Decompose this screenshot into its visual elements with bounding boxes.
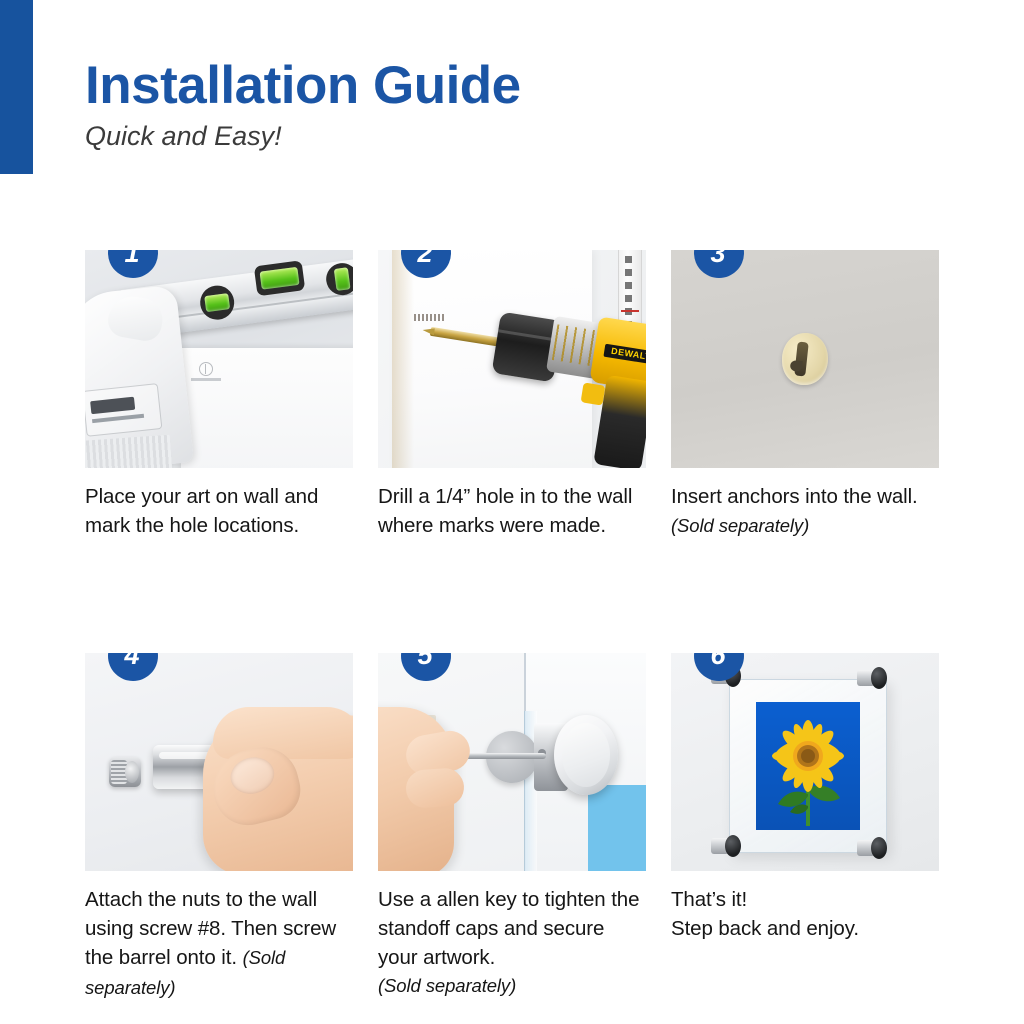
drill-brand-label: DEWALT — [603, 344, 646, 365]
step-3-photo: 3 — [671, 250, 939, 468]
step-6: 6 That’s it! Step back and enjoy. — [671, 653, 939, 1002]
acrylic-frame — [729, 679, 887, 853]
spirit-level-illustration — [85, 250, 353, 468]
standoff-bottom-right — [857, 837, 887, 859]
step-4-caption: Attach the nuts to the wall using screw … — [85, 885, 353, 1002]
panel-label — [191, 378, 221, 381]
ruler-red-line — [621, 310, 639, 312]
step-4-caption-text: Attach the nuts to the wall using screw … — [85, 888, 336, 970]
glove-cuff — [85, 435, 172, 468]
header: Installation Guide Quick and Easy! — [85, 58, 785, 152]
header-accent-bar — [0, 0, 33, 174]
hand-fingers — [213, 707, 353, 759]
finished-frame-illustration — [671, 653, 939, 871]
step-4: 4 Attach the nuts to the wall using scre… — [85, 653, 353, 1002]
sunflower-artwork — [756, 702, 860, 830]
step-5-caption: Use a allen key to tighten the standoff … — [378, 885, 646, 999]
step-1: 1 Place your art on wall and mark the ho… — [85, 250, 353, 541]
bubble-vial-center-icon — [254, 260, 306, 296]
step-2: DEWALT 2 Drill a 1/4” hole in to the wal… — [378, 250, 646, 541]
wall-shadow — [392, 250, 414, 468]
step-5-caption-text: Use a allen key to tighten the standoff … — [378, 888, 639, 970]
step-1-caption-text: Place your art on wall and mark the hole… — [85, 485, 318, 537]
artwork-blue-area — [588, 785, 646, 871]
wall-nut — [109, 757, 141, 787]
step-6-caption: That’s it! Step back and enjoy. — [671, 885, 939, 944]
step-5: 5 Use a allen key to tighten the standof… — [378, 653, 646, 1002]
bubble-vial-left-icon — [198, 284, 236, 322]
standoff-cap — [554, 715, 618, 795]
bubble-vial-right-icon — [324, 261, 353, 297]
page-subtitle: Quick and Easy! — [85, 122, 785, 152]
glove-thumb — [105, 293, 165, 344]
step-5-note: (Sold separately) — [378, 973, 646, 999]
drywall-anchor — [782, 333, 828, 385]
step-2-caption-text: Drill a 1/4” hole in to the wall where m… — [378, 485, 632, 537]
allen-key-illustration — [378, 653, 646, 871]
steps-grid: 1 Place your art on wall and mark the ho… — [85, 250, 939, 1002]
step-6-photo: 6 — [671, 653, 939, 871]
drill-mark — [414, 314, 444, 321]
page-title: Installation Guide — [85, 58, 785, 114]
step-1-caption: Place your art on wall and mark the hole… — [85, 482, 353, 541]
drill-trigger — [581, 382, 606, 405]
sunflower-icon — [756, 702, 860, 830]
art-panel — [181, 348, 353, 468]
step-2-caption: Drill a 1/4” hole in to the wall where m… — [378, 482, 646, 541]
panel-mark-icon — [199, 362, 213, 376]
step-4-photo: 4 — [85, 653, 353, 871]
glove-logo — [85, 383, 162, 437]
drill-illustration: DEWALT — [378, 250, 646, 468]
standoff-bottom-left — [711, 835, 741, 857]
step-6-caption-text: That’s it! Step back and enjoy. — [671, 888, 859, 940]
standoff-top-right — [857, 667, 887, 689]
wall-anchor-illustration — [671, 250, 939, 468]
hand-finger-middle — [405, 767, 466, 809]
standoff-barrel-illustration — [85, 653, 353, 871]
anchor-screw-slot — [794, 342, 808, 377]
thumb-nail — [227, 752, 278, 798]
step-3: 3 Insert anchors into the wall. (Sold se… — [671, 250, 939, 541]
step-3-note: (Sold separately) — [671, 515, 809, 536]
hand — [378, 707, 454, 871]
nut-head — [125, 761, 139, 783]
step-3-caption: Insert anchors into the wall. (Sold sepa… — [671, 482, 939, 541]
step-5-photo: 5 — [378, 653, 646, 871]
step-3-caption-text: Insert anchors into the wall. — [671, 485, 918, 508]
step-2-photo: DEWALT 2 — [378, 250, 646, 468]
step-1-photo: 1 — [85, 250, 353, 468]
